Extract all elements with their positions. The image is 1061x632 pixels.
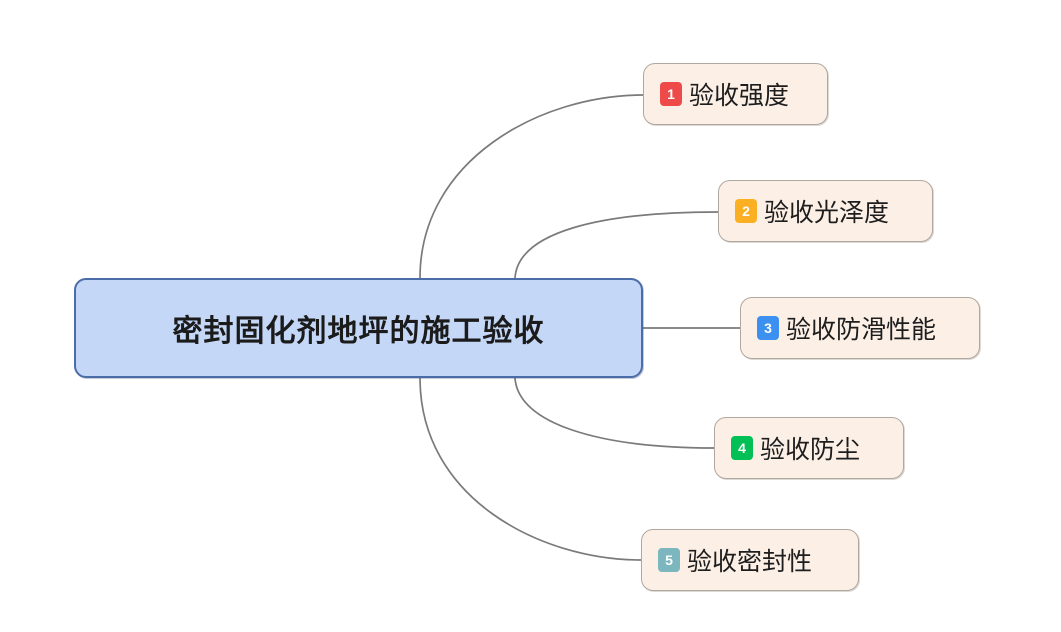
branch-number-badge-2: 2 — [735, 199, 757, 223]
connector-to-branch-2 — [515, 212, 718, 278]
branch-node-2[interactable]: 2 验收光泽度 — [718, 180, 933, 242]
connector-to-branch-4 — [515, 378, 714, 448]
branch-number-badge-4: 4 — [731, 436, 753, 460]
branch-node-label-5: 验收密封性 — [687, 542, 812, 578]
branch-node-label-1: 验收强度 — [689, 76, 789, 112]
branch-node-label-4: 验收防尘 — [760, 430, 860, 466]
connector-to-branch-5 — [420, 378, 641, 560]
branch-node-4[interactable]: 4 验收防尘 — [714, 417, 904, 479]
central-node-label: 密封固化剂地坪的施工验收 — [173, 306, 545, 350]
branch-number-badge-5: 5 — [658, 548, 680, 572]
branch-node-1[interactable]: 1 验收强度 — [643, 63, 828, 125]
branch-node-label-3: 验收防滑性能 — [786, 310, 936, 346]
branch-node-3[interactable]: 3 验收防滑性能 — [740, 297, 980, 359]
branch-number-badge-3: 3 — [757, 316, 779, 340]
central-node[interactable]: 密封固化剂地坪的施工验收 — [74, 278, 643, 378]
connector-to-branch-1 — [420, 95, 643, 278]
branch-number-badge-1: 1 — [660, 82, 682, 106]
mindmap-canvas: 密封固化剂地坪的施工验收 1 验收强度 2 验收光泽度 3 验收防滑性能 4 验… — [0, 0, 1061, 632]
branch-node-label-2: 验收光泽度 — [764, 193, 889, 229]
branch-node-5[interactable]: 5 验收密封性 — [641, 529, 859, 591]
